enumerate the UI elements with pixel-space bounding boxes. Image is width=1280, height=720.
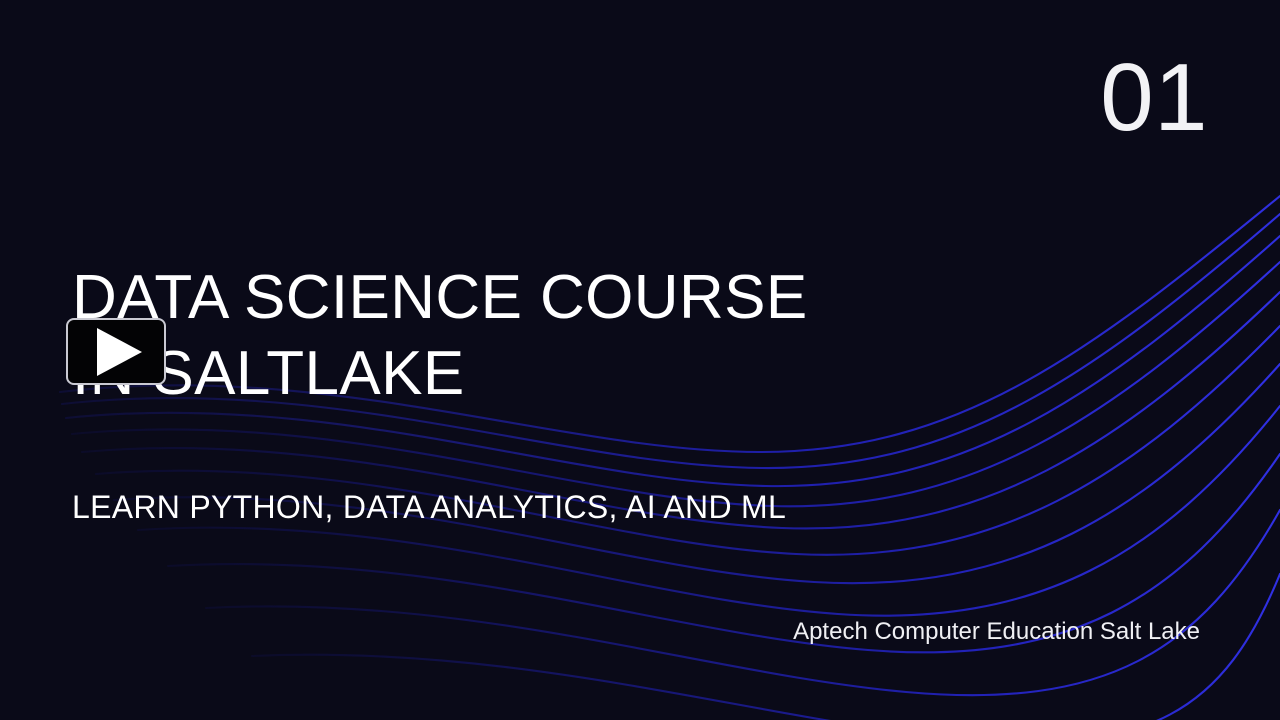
footer-branding: Aptech Computer Education Salt Lake — [793, 616, 1200, 648]
slide-subtitle: LEARN PYTHON, DATA ANALYTICS, AI AND ML — [72, 482, 832, 532]
page-title: DATA SCIENCE COURSE IN SALTLAKE — [72, 260, 852, 412]
play-triangle-icon — [97, 328, 142, 376]
presentation-slide: 01 DATA SCIENCE COURSE IN SALTLAKE LEARN… — [0, 0, 1280, 720]
play-button[interactable] — [66, 318, 166, 385]
slide-number: 01 — [1100, 50, 1208, 146]
